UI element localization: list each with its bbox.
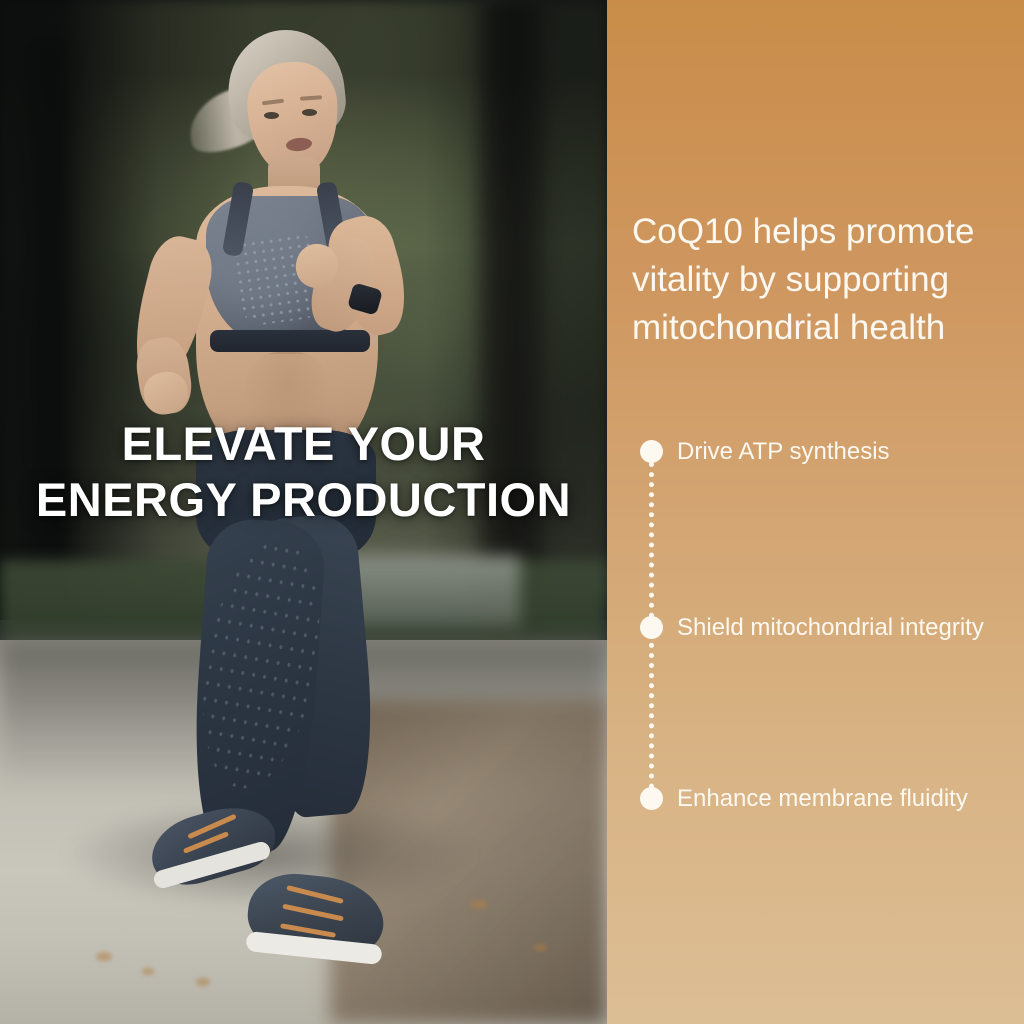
- benefit-item-3: Enhance membrane fluidity: [635, 787, 1024, 813]
- timeline-dot-icon: [640, 616, 663, 639]
- timeline-dot-icon: [640, 787, 663, 810]
- benefit-label: Shield mitochondrial integrity: [677, 614, 984, 642]
- timeline-dot-icon: [640, 440, 663, 463]
- info-heading: CoQ10 helps promote vitality by supporti…: [632, 208, 1018, 352]
- hero-headline: ELEVATE YOUR ENERGY PRODUCTION: [0, 416, 607, 528]
- runner-eye-right: [302, 109, 317, 116]
- benefit-item-1: Drive ATP synthesis: [635, 440, 1024, 466]
- benefit-label: Enhance membrane fluidity: [677, 785, 968, 813]
- hero-photo: ELEVATE YOUR ENERGY PRODUCTION: [0, 0, 607, 1024]
- info-panel: CoQ10 helps promote vitality by supporti…: [607, 0, 1024, 1024]
- benefit-label: Drive ATP synthesis: [677, 438, 890, 466]
- benefits-timeline: Drive ATP synthesis Shield mitochondrial…: [635, 440, 1024, 822]
- runner-eye-left: [264, 112, 279, 119]
- sports-bra-band: [210, 330, 370, 352]
- promotional-poster: ELEVATE YOUR ENERGY PRODUCTION CoQ10 hel…: [0, 0, 1024, 1024]
- benefit-item-2: Shield mitochondrial integrity: [635, 616, 1024, 642]
